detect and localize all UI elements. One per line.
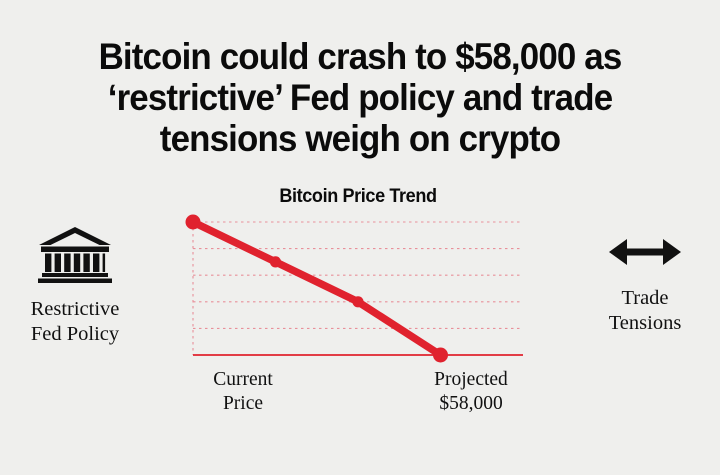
page-title: Bitcoin could crash to $58,000 as ‘restr… bbox=[53, 36, 667, 159]
chart-data-points bbox=[186, 215, 449, 363]
side-panel-trade-tensions: Trade Tensions bbox=[570, 232, 720, 336]
axis-label-projected-price-line-1: Projected bbox=[396, 368, 546, 392]
side-panel-fed-policy: Restrictive Fed Policy bbox=[0, 225, 150, 347]
trade-tensions-label-line-2: Tensions bbox=[570, 311, 720, 336]
chart-series-line bbox=[193, 222, 441, 355]
fed-policy-label-line-1: Restrictive bbox=[0, 297, 150, 322]
infographic-canvas: Bitcoin could crash to $58,000 as ‘restr… bbox=[0, 0, 720, 475]
double-arrow-horizontal-icon bbox=[570, 232, 720, 272]
chart-axis-lines bbox=[193, 222, 523, 355]
data-point-0 bbox=[186, 215, 201, 230]
axis-label-current-price-line-1: Current bbox=[168, 368, 318, 392]
data-point-3 bbox=[433, 348, 448, 363]
headline-line-2: ‘restrictive’ Fed policy and trade bbox=[53, 77, 667, 118]
axis-label-projected-price-line-2: $58,000 bbox=[396, 392, 546, 416]
data-point-1 bbox=[270, 256, 281, 267]
side-panel-trade-tensions-label: Trade Tensions bbox=[570, 286, 720, 336]
headline-line-3: tensions weigh on crypto bbox=[53, 118, 667, 159]
chart-title: Bitcoin Price Trend bbox=[201, 186, 515, 208]
side-panel-fed-policy-label: Restrictive Fed Policy bbox=[0, 297, 150, 347]
axis-label-current-price-line-2: Price bbox=[168, 392, 318, 416]
trade-tensions-label-line-1: Trade bbox=[570, 286, 720, 311]
chart-gridlines bbox=[193, 249, 523, 329]
bank-building-icon bbox=[0, 225, 150, 283]
data-point-2 bbox=[352, 296, 363, 307]
fed-policy-label-line-2: Fed Policy bbox=[0, 322, 150, 347]
axis-label-projected-price: Projected $58,000 bbox=[396, 368, 546, 416]
trend-line bbox=[193, 222, 441, 355]
headline-line-1: Bitcoin could crash to $58,000 as bbox=[53, 36, 667, 77]
axis-label-current-price: Current Price bbox=[168, 368, 318, 416]
